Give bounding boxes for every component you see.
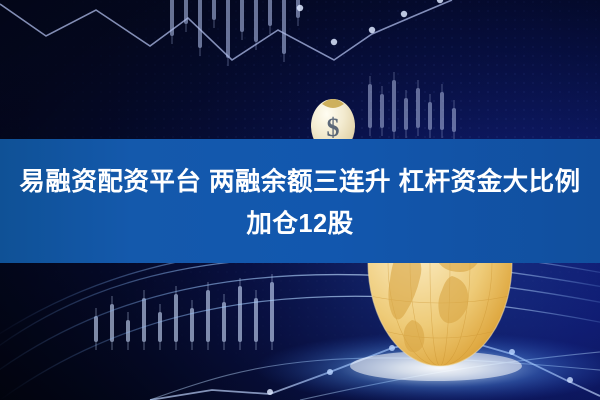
svg-text:$: $ xyxy=(327,113,340,142)
headline-line-2: 加仓12股 xyxy=(246,204,353,244)
headline-line-1: 易融资配资平台 两融余额三连升 杠杆资金大比例 xyxy=(19,162,580,202)
banner-image: $ $ 易融资配资平台 两融余额三连升 杠杆资金大比例 加仓12股 xyxy=(0,0,600,400)
headline-text-block: 易融资配资平台 两融余额三连升 杠杆资金大比例 加仓12股 xyxy=(0,139,600,263)
